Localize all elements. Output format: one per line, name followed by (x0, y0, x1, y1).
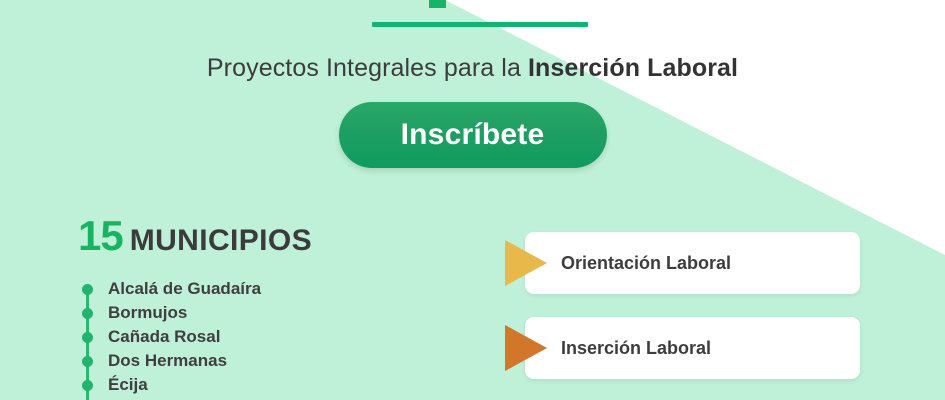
bullet-dot-icon (82, 308, 93, 319)
service-card-label: Inserción Laboral (561, 317, 711, 379)
list-item: Bormujos (108, 301, 408, 325)
cta-container: Inscríbete (0, 102, 945, 168)
municipalities-heading: 15MUNICIPIOS (78, 215, 408, 257)
municipalities-count: 15 (78, 212, 123, 259)
municipalities-list: Alcalá de Guadaíra Bormujos Cañada Rosal… (78, 277, 408, 397)
list-item: Alcalá de Guadaíra (108, 277, 408, 301)
list-item: Dos Hermanas (108, 349, 408, 373)
subtitle-strong-text: Inserción Laboral (528, 54, 738, 82)
bullet-dot-icon (82, 356, 93, 367)
header-divider (372, 22, 588, 27)
inscribete-button[interactable]: Inscríbete (339, 102, 607, 168)
services-section: Orientación Laboral Inserción Laboral (505, 232, 860, 400)
service-card-insercion[interactable]: Inserción Laboral (505, 317, 860, 379)
municipality-name: Cañada Rosal (108, 327, 220, 346)
play-triangle-icon (505, 325, 547, 371)
service-card-orientacion[interactable]: Orientación Laboral (505, 232, 860, 294)
municipalities-section: 15MUNICIPIOS Alcalá de Guadaíra Bormujos… (78, 215, 408, 397)
municipality-name: Bormujos (108, 303, 187, 322)
cropped-headline-glyph (429, 0, 446, 8)
municipality-name: Dos Hermanas (108, 351, 227, 370)
list-item: Cañada Rosal (108, 325, 408, 349)
list-item: Écija (108, 373, 408, 397)
page-subtitle: Proyectos Integrales para la Inserción L… (0, 52, 945, 84)
municipalities-label: MUNICIPIOS (130, 224, 312, 257)
municipality-name: Alcalá de Guadaíra (108, 279, 261, 298)
subtitle-light-text: Proyectos Integrales para la (207, 54, 528, 82)
poster-canvas: Proyectos Integrales para la Inserción L… (0, 0, 945, 400)
municipality-name: Écija (108, 375, 148, 394)
bullet-dot-icon (82, 380, 93, 391)
service-card-label: Orientación Laboral (561, 232, 731, 294)
play-triangle-icon (505, 240, 547, 286)
bullet-dot-icon (82, 332, 93, 343)
bullet-dot-icon (82, 284, 93, 295)
